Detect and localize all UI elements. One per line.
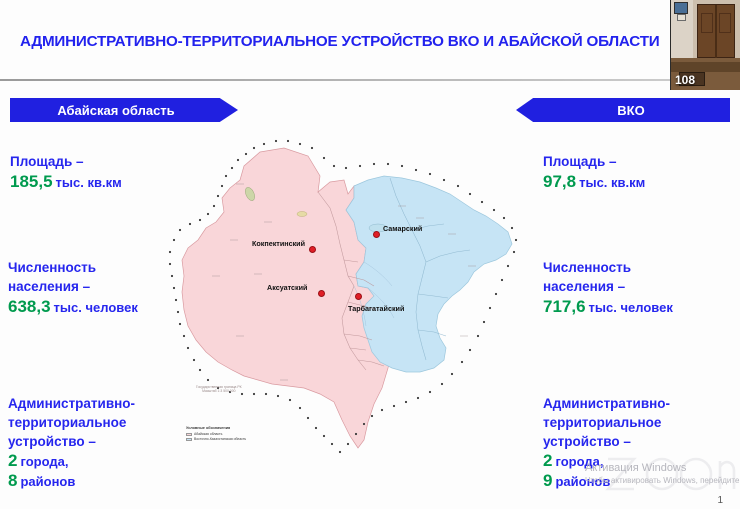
video-desk [671,62,740,72]
stat-abai-admin-label-3: устройство – [8,432,135,451]
stat-vko-population-label-1: Численность [543,258,673,277]
stat-abai-cities-value: 2 [8,451,17,470]
map-label-tarbagatayskiy: Тарбагатайский [348,304,404,313]
stat-vko-districts-value: 9 [543,471,552,490]
map-label-aksuatskiy: Аксуатский [267,283,307,292]
stat-vko-admin-label-1: Административно- [543,394,670,413]
stat-vko-area: Площадь – 97,8тыс. кв.км [543,152,645,192]
map-legend-label-vko: Восточно-Казахстанская область [194,437,246,442]
stat-abai-area-value: 185,5 [10,172,53,191]
stat-abai-population-label-2: населения – [8,277,138,296]
stat-abai-area-label: Площадь – [10,152,122,171]
stat-abai-districts-unit: районов [20,474,75,489]
stat-abai-population-value: 638,3 [8,297,51,316]
region-map: Самарский Кокпектинский Аксуатский Тарба… [168,136,520,486]
map-marker-kokpektinskiy[interactable] [309,246,316,253]
map-lake-alakol [297,212,307,217]
stat-abai-population: Численность населения – 638,3тыс. челове… [8,258,138,317]
stat-vko-cities-value: 2 [543,451,552,470]
stat-vko-population-unit: тыс. человек [589,300,673,315]
map-legend-swatch-abai [186,433,192,436]
stat-abai-population-unit: тыс. человек [54,300,138,315]
title-divider [0,79,740,81]
presentation-slide: АДМИНИСТРАТИВНО-ТЕРРИТОРИАЛЬНОЕ УСТРОЙСТ… [0,0,740,509]
map-legend-item-vko: Восточно-Казахстанская область [186,437,246,442]
stat-abai-area: Площадь – 185,5тыс. кв.км [10,152,122,192]
map-marker-tarbagatayskiy[interactable] [355,293,362,300]
banner-vko-region: ВКО [516,98,730,122]
stat-vko-cities-unit: города, [555,454,603,469]
stat-abai-population-label-1: Численность [8,258,138,277]
banner-abai-label: Абайская область [57,103,174,118]
map-label-kokpektinskiy: Кокпектинский [252,239,305,248]
stat-vko-admin-label-2: территориальное [543,413,670,432]
video-participant-thumbnail[interactable]: 108 [670,0,740,90]
stat-vko-population-value: 717,6 [543,297,586,316]
video-picture-frame-small [677,14,686,21]
page-title: АДМИНИСТРАТИВНО-ТЕРРИТОРИАЛЬНОЕ УСТРОЙСТ… [20,33,720,50]
stat-abai-admin-label-2: территориальное [8,413,135,432]
stat-abai-districts-value: 8 [8,471,17,490]
map-marker-samarskiy[interactable] [373,231,380,238]
banner-vko-label: ВКО [617,103,644,118]
map-scale-note-line-2: Масштаб 1:3 500 000 [196,389,242,394]
slide-page-number: 1 [717,495,723,506]
stat-vko-population: Численность населения – 717,6тыс. челове… [543,258,673,317]
stat-vko-population-label-2: населения – [543,277,673,296]
banner-abai-region: Абайская область [10,98,238,122]
map-legend-title: Условные обозначения [186,426,246,431]
stat-abai-admin-structure: Административно- территориальное устройс… [8,394,135,491]
stat-vko-admin-label-3: устройство – [543,432,670,451]
map-scale-note: Государственная граница РК Масштаб 1:3 5… [196,385,242,394]
stat-vko-area-value: 97,8 [543,172,576,191]
stat-vko-area-unit: тыс. кв.км [579,175,645,190]
stat-abai-area-unit: тыс. кв.км [56,175,122,190]
stat-vko-districts-unit: районов [555,474,610,489]
map-legend: Условные обозначения Абайская область Во… [186,426,246,443]
video-participant-badge: 108 [675,73,695,87]
stat-abai-cities-unit: города, [20,454,68,469]
stat-vko-admin-structure: Административно- территориальное устройс… [543,394,670,491]
map-area-vko [346,176,512,372]
video-door-panel-left [701,13,713,33]
stat-abai-admin-label-1: Административно- [8,394,135,413]
video-door [697,4,735,58]
map-label-samarskiy: Самарский [383,224,422,233]
stat-vko-area-label: Площадь – [543,152,645,171]
map-marker-aksuatskiy[interactable] [318,290,325,297]
video-picture-frame [674,2,688,14]
map-legend-swatch-vko [186,438,192,441]
video-door-panel-right [719,13,731,33]
